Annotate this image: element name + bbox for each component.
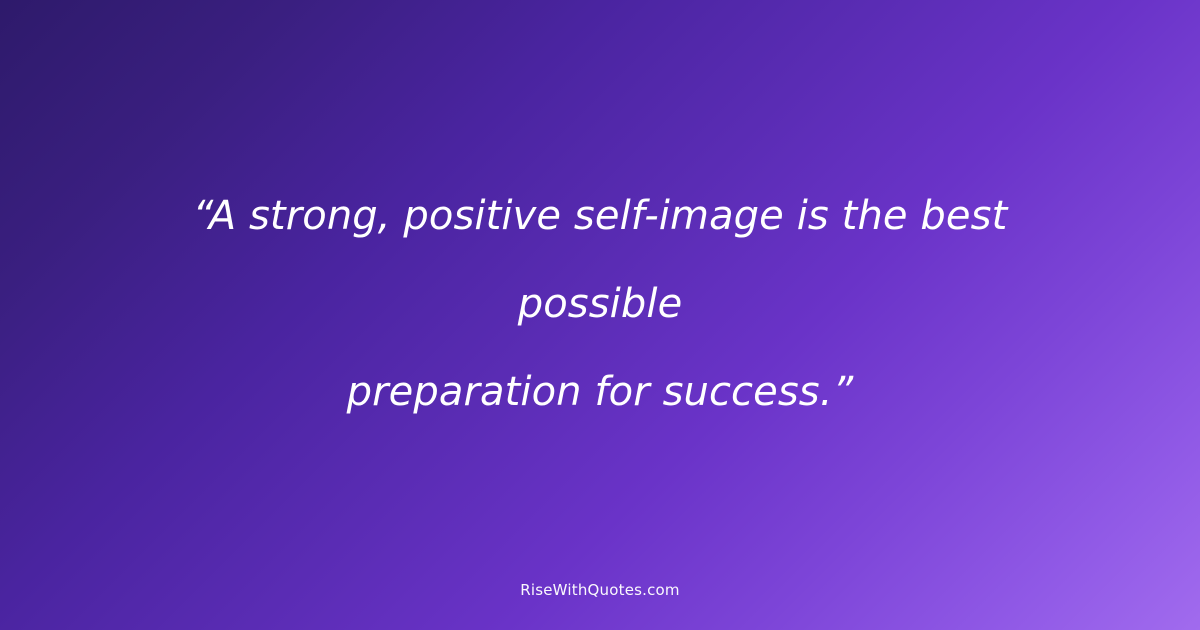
quote-text: “A strong, positive self-image is the be…: [110, 172, 1090, 436]
quote-card: “A strong, positive self-image is the be…: [0, 0, 1200, 630]
site-watermark: RiseWithQuotes.com: [0, 581, 1200, 599]
quote-block: “A strong, positive self-image is the be…: [0, 172, 1200, 436]
